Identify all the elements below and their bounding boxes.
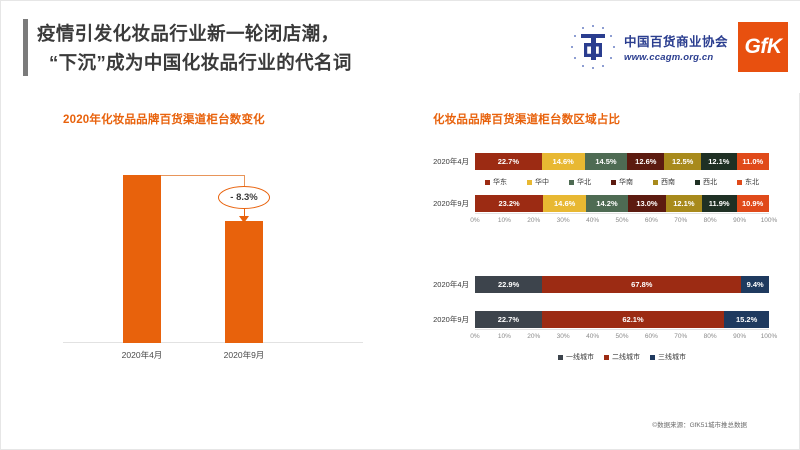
legend-label: 华北 [577,177,591,187]
legend-label: 西南 [661,177,675,187]
delta-arrow-head-icon [239,216,249,223]
city-row-label-september: 2020年9月 [421,314,475,325]
legend-swatch-icon [737,180,742,185]
legend-label: 二线城市 [612,352,640,362]
city-row-september: 2020年9月 22.7%62.1%15.2% [421,311,781,328]
delta-connector-horizontal [161,175,245,176]
left-chart-baseline [63,342,363,343]
axis-tick-label: 20% [527,217,540,224]
stack-segment-华南: 13.0% [628,195,666,212]
city-row-label-april: 2020年4月 [421,279,475,290]
left-chart-xlabel-september: 2020年9月 [199,349,289,361]
legend-item-一线城市: 一线城市 [558,352,594,362]
axis-tick-label: 0% [470,217,479,224]
city-axis-ticks: 0%10%20%30%40%50%60%70%80%90%100% [475,333,769,345]
city-bar-track-september: 22.7%62.1%15.2% [475,311,769,328]
column-bar-april [123,175,161,343]
stack-segment-华中: 14.6% [543,195,586,212]
region-bar-track-april: 22.7%14.6%14.5%12.6%12.5%12.1%11.0% [475,153,769,170]
axis-tick-label: 80% [704,217,717,224]
right-charts-panel: 化妆品品牌百货渠道柜台数区域占比 2020年4月 22.7%14.6%14.5%… [421,111,781,386]
legend-label: 华南 [619,177,633,187]
stack-segment-东北: 11.0% [737,153,769,170]
page-title: 疫情引发化妆品行业新一轮闭店潮， “下沉”成为中国化妆品行业的代名词 [37,19,557,77]
legend-item-华东: 华东 [485,177,507,187]
region-share-chart: 2020年4月 22.7%14.6%14.5%12.6%12.5%12.1%11… [421,153,781,263]
right-chart-title: 化妆品品牌百货渠道柜台数区域占比 [433,111,620,127]
axis-tick-label: 90% [733,333,746,340]
stack-segment-一线城市: 22.9% [475,276,542,293]
ccagm-website-url: www.ccagm.org.cn [624,52,728,63]
stack-segment-华中: 14.6% [542,153,585,170]
stack-segment-二线城市: 67.8% [542,276,741,293]
page-title-line2: “下沉”成为中国化妆品行业的代名词 [37,48,557,77]
legend-swatch-icon [558,355,563,360]
legend-item-西南: 西南 [653,177,675,187]
stack-segment-东北: 10.9% [737,195,769,212]
axis-tick-label: 100% [761,217,778,224]
ccagm-logo: 中国百货商业协会 www.ccagm.org.cn [567,21,728,73]
legend-swatch-icon [527,180,532,185]
axis-tick-label: 70% [674,333,687,340]
city-row-april: 2020年4月 22.9%67.8%9.4% [421,276,781,293]
city-bar-track-april: 22.9%67.8%9.4% [475,276,769,293]
region-row-september: 2020年9月 23.2%14.6%14.2%13.0%12.1%11.9%10… [421,195,781,212]
region-legend: 华东华中华北华南西南西北东北 [475,177,769,187]
legend-swatch-icon [569,180,574,185]
axis-tick-label: 50% [615,217,628,224]
axis-tick-label: 10% [498,217,511,224]
legend-label: 一线城市 [566,352,594,362]
stack-segment-西南: 12.5% [664,153,701,170]
region-axis-line [475,213,769,214]
slide-header: 疫情引发化妆品行业新一轮闭店潮， “下沉”成为中国化妆品行业的代名词 [1,1,800,93]
legend-item-华北: 华北 [569,177,591,187]
region-row-label-september: 2020年9月 [421,198,475,209]
axis-tick-label: 80% [704,333,717,340]
stack-segment-西北: 11.9% [702,195,737,212]
legend-swatch-icon [604,355,609,360]
city-legend: 一线城市二线城市三线城市 [475,352,769,362]
legend-item-二线城市: 二线城市 [604,352,640,362]
page-title-line1: 疫情引发化妆品行业新一轮闭店潮， [37,19,557,48]
ccagm-name-cn: 中国百货商业协会 [624,31,728,50]
axis-tick-label: 40% [586,333,599,340]
axis-tick-label: 30% [557,333,570,340]
axis-tick-label: 40% [586,217,599,224]
legend-label: 东北 [745,177,759,187]
legend-swatch-icon [485,180,490,185]
region-axis-ticks: 0%10%20%30%40%50%60%70%80%90%100% [475,217,769,229]
region-bar-track-september: 23.2%14.6%14.2%13.0%12.1%11.9%10.9% [475,195,769,212]
legend-item-东北: 东北 [737,177,759,187]
legend-label: 华东 [493,177,507,187]
axis-tick-label: 90% [733,217,746,224]
city-axis-line [475,329,769,330]
slide-canvas: 疫情引发化妆品行业新一轮闭店潮， “下沉”成为中国化妆品行业的代名词 [0,0,800,450]
legend-label: 华中 [535,177,549,187]
region-row-label-april: 2020年4月 [421,156,475,167]
city-tier-share-chart: 2020年4月 22.9%67.8%9.4% 2020年9月 22.7%62.1… [421,276,781,376]
column-bar-september [225,221,263,343]
axis-tick-label: 20% [527,333,540,340]
axis-tick-label: 60% [645,333,658,340]
axis-tick-label: 10% [498,333,511,340]
left-chart-title: 2020年化妆品品牌百货渠道柜台数变化 [63,111,363,127]
axis-tick-label: 30% [557,217,570,224]
legend-item-华中: 华中 [527,177,549,187]
legend-label: 西北 [703,177,717,187]
stack-segment-三线城市: 9.4% [741,276,769,293]
ccagm-emblem-icon [567,21,619,73]
stack-segment-华北: 14.2% [586,195,628,212]
legend-swatch-icon [653,180,658,185]
legend-swatch-icon [695,180,700,185]
legend-item-华南: 华南 [611,177,633,187]
legend-swatch-icon [650,355,655,360]
legend-label: 三线城市 [658,352,686,362]
delta-badge: - 8.3% [218,186,270,209]
left-chart-plot: - 8.3% [63,153,363,343]
stack-segment-一线城市: 22.7% [475,311,542,328]
left-chart-xlabel-april: 2020年4月 [97,349,187,361]
axis-tick-label: 0% [470,333,479,340]
stack-segment-西南: 12.1% [666,195,702,212]
source-note: ©数据来源：GfK51城市推总数据 [652,419,747,429]
axis-tick-label: 60% [645,217,658,224]
logo-area: 中国百货商业协会 www.ccagm.org.cn GfK [567,18,789,76]
axis-tick-label: 70% [674,217,687,224]
stack-segment-西北: 12.1% [701,153,737,170]
left-chart-panel: 2020年化妆品品牌百货渠道柜台数变化 - 8.3% 2020年4月 2020年… [63,111,363,366]
stack-segment-二线城市: 62.1% [542,311,725,328]
stack-segment-华北: 14.5% [585,153,628,170]
axis-tick-label: 50% [615,333,628,340]
ccagm-wordmark: 中国百货商业协会 www.ccagm.org.cn [624,31,728,63]
title-accent-bar [23,19,28,76]
legend-swatch-icon [611,180,616,185]
axis-tick-label: 100% [761,333,778,340]
region-row-april: 2020年4月 22.7%14.6%14.5%12.6%12.5%12.1%11… [421,153,781,170]
gfk-logo: GfK [738,22,788,72]
stack-segment-华东: 22.7% [475,153,542,170]
stack-segment-三线城市: 15.2% [724,311,769,328]
legend-item-西北: 西北 [695,177,717,187]
legend-item-三线城市: 三线城市 [650,352,686,362]
stack-segment-华东: 23.2% [475,195,543,212]
stack-segment-华南: 12.6% [627,153,664,170]
